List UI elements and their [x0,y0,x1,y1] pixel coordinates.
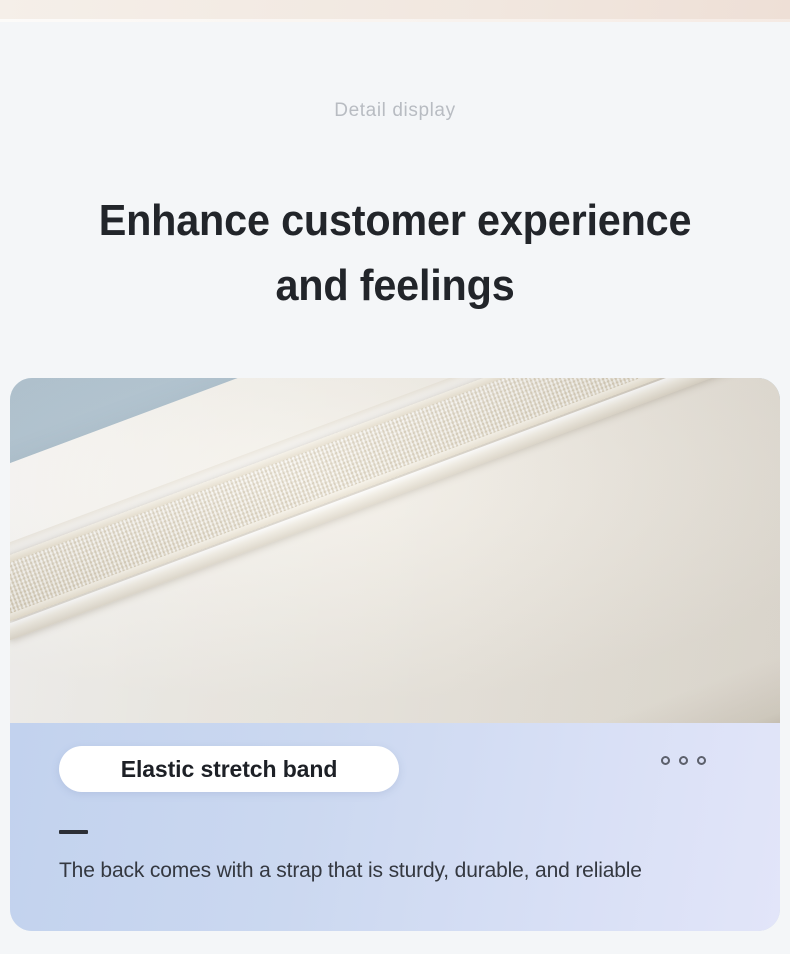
page-title: Enhance customer experience and feelings [24,188,767,318]
caption-divider [59,830,88,834]
feature-card: Elastic stretch band The back comes with… [10,378,780,931]
page-title-line-1: Enhance customer experience [24,188,767,253]
feature-badge: Elastic stretch band [59,746,399,792]
three-rings-icon [661,756,706,765]
page-title-line-2: and feelings [24,253,767,318]
ring-dot-2 [679,756,688,765]
ring-dot-1 [661,756,670,765]
caption-description: The back comes with a strap that is stur… [59,859,642,883]
top-decorative-strip [0,0,790,22]
product-photo [10,378,780,723]
ring-dot-3 [697,756,706,765]
photo-vignette [10,378,780,723]
feature-badge-label: Elastic stretch band [121,756,338,783]
caption-panel: Elastic stretch band The back comes with… [10,723,780,931]
section-eyebrow-label: Detail display [0,100,790,122]
